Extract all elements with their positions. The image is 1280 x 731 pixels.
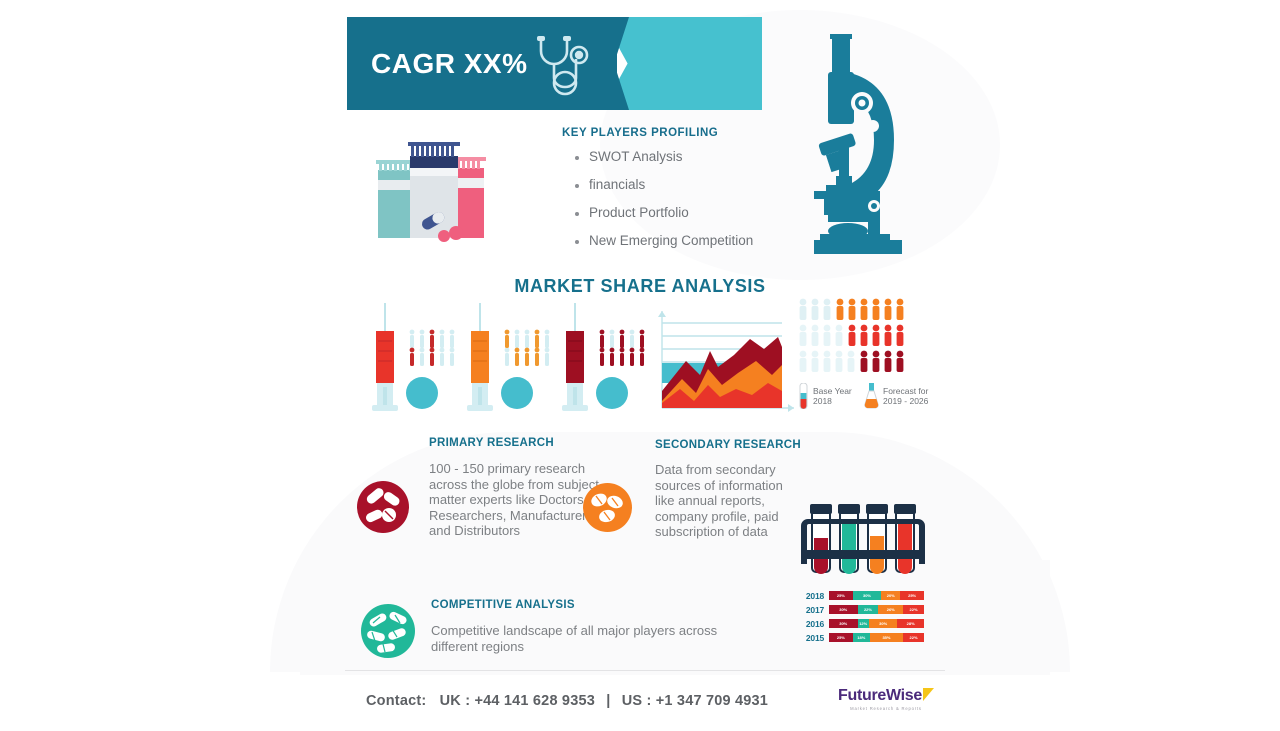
key-players-list: SWOT Analysis financials Product Portfol…	[575, 149, 825, 261]
footer-divider	[345, 670, 945, 671]
logo-tagline: Market Research & Reports	[838, 706, 934, 711]
contact-uk: UK : +44 141 628 9353	[440, 693, 595, 709]
table-row: 2015 25% 18% 35% 22%	[800, 632, 925, 643]
contact-separator: |	[606, 693, 610, 709]
cagr-label: CAGR XX%	[371, 17, 527, 110]
contact-label: Contact:	[366, 693, 426, 709]
bullet-icon	[575, 240, 579, 244]
competitive-analysis-title: COMPETITIVE ANALYSIS	[431, 599, 575, 611]
bar-segment: 18%	[853, 633, 870, 642]
bar-segment: 22%	[903, 633, 924, 642]
stacked-bar: 30% 12% 30% 28%	[829, 619, 924, 628]
market-share-legend: Base Year 2018 Forecast for 2019 - 2026	[798, 378, 943, 414]
bar-segment: 30%	[829, 619, 858, 628]
table-row: 2017 30% 22% 26% 22%	[800, 604, 925, 615]
tablets-circle-icon	[583, 483, 632, 532]
bar-segment: 25%	[829, 633, 853, 642]
bullet-icon	[575, 156, 579, 160]
legend-item-base-year: Base Year 2018	[798, 383, 852, 409]
area-chart-icon	[652, 303, 802, 418]
secondary-research-title: SECONDARY RESEARCH	[655, 439, 801, 451]
bullet-icon	[575, 212, 579, 216]
bar-segment: 25%	[900, 591, 924, 600]
logo-part-2: Wise	[886, 687, 922, 704]
legend-item-forecast: Forecast for 2019 - 2026	[864, 383, 928, 409]
market-share-title: MARKET SHARE ANALYSIS	[0, 276, 1280, 297]
capsules-circle-icon	[361, 604, 415, 658]
competitive-analysis-body: Competitive landscape of all major playe…	[431, 623, 721, 654]
pill-bottles-icon	[368, 140, 498, 250]
test-tube-rack-icon	[797, 498, 927, 582]
bar-segment: 20%	[881, 591, 900, 600]
year-label: 2017	[800, 605, 824, 615]
year-label: 2016	[800, 619, 824, 629]
stethoscope-icon	[532, 33, 604, 99]
bar-segment: 30%	[853, 591, 882, 600]
stacked-bar: 25% 30% 20% 25%	[829, 591, 924, 600]
legend-text: Base Year 2018	[813, 386, 852, 406]
contact-line: Contact: UK : +44 141 628 9353 | US : +1…	[366, 693, 768, 709]
year-label: 2018	[800, 591, 824, 601]
list-item: financials	[575, 177, 825, 192]
pills-circle-icon	[357, 481, 409, 533]
list-item-label: SWOT Analysis	[589, 149, 683, 164]
bar-segment: 30%	[829, 605, 858, 614]
infographic-root: CAGR XX% KEY PLAYERS PROFILING SWOT Anal…	[0, 0, 1280, 731]
bar-segment: 26%	[878, 605, 903, 614]
people-population-icon	[797, 297, 915, 372]
table-row: 2016 30% 12% 30% 28%	[800, 618, 925, 629]
bar-segment: 25%	[829, 591, 853, 600]
bullet-icon	[575, 184, 579, 188]
bar-segment: 30%	[869, 619, 898, 628]
syringe-population-chart-icon	[362, 303, 647, 418]
logo-part-1: Future	[838, 687, 886, 704]
list-item: Product Portfolio	[575, 205, 825, 220]
logo-flag-icon	[923, 688, 934, 701]
yearly-share-chart: 2018 25% 30% 20% 25% 2017 30% 22% 26% 22…	[800, 590, 925, 646]
bar-segment: 22%	[903, 605, 924, 614]
list-item: SWOT Analysis	[575, 149, 825, 164]
bar-segment: 28%	[897, 619, 924, 628]
stacked-bar: 30% 22% 26% 22%	[829, 605, 924, 614]
key-players-title: KEY PLAYERS PROFILING	[562, 127, 718, 139]
secondary-research-body: Data from secondary sources of informati…	[655, 462, 805, 540]
primary-research-title: PRIMARY RESEARCH	[429, 437, 554, 449]
stacked-bar: 25% 18% 35% 22%	[829, 633, 924, 642]
list-item-label: Product Portfolio	[589, 205, 689, 220]
cagr-banner: CAGR XX%	[347, 17, 762, 110]
list-item-label: New Emerging Competition	[589, 233, 753, 248]
banner-light-panel	[602, 17, 762, 110]
primary-research-body: 100 - 150 primary research across the gl…	[429, 461, 609, 539]
logo-wordmark: FutureWise	[838, 688, 934, 704]
legend-text: Forecast for 2019 - 2026	[883, 386, 928, 406]
year-label: 2015	[800, 633, 824, 643]
bar-segment: 12%	[858, 619, 869, 628]
microscope-icon	[806, 28, 926, 258]
contact-us: US : +1 347 709 4931	[622, 693, 768, 709]
test-tube-icon	[798, 383, 809, 409]
list-item-label: financials	[589, 177, 645, 192]
flask-icon	[864, 383, 879, 409]
table-row: 2018 25% 30% 20% 25%	[800, 590, 925, 601]
list-item: New Emerging Competition	[575, 233, 825, 248]
bar-segment: 22%	[858, 605, 879, 614]
bar-segment: 35%	[870, 633, 903, 642]
futurewise-logo: FutureWise Market Research & Reports	[838, 688, 934, 718]
